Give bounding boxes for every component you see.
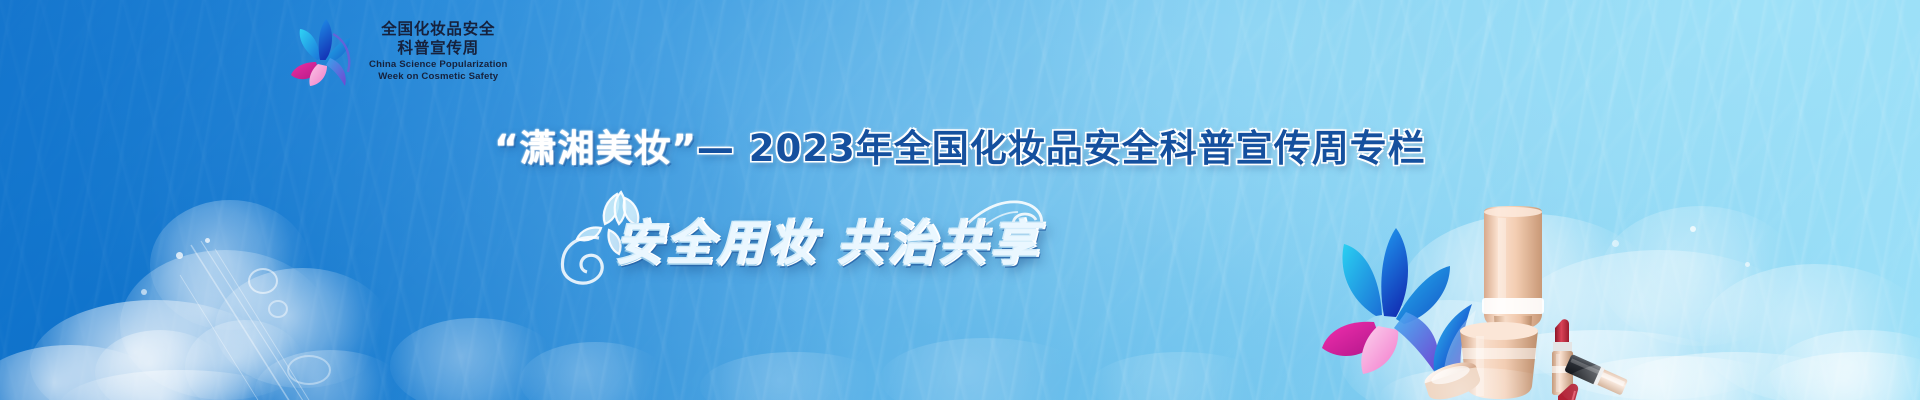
slogan-text: 安全用妆共治共享	[615, 204, 1041, 274]
slogan-block: 安全用妆共治共享	[560, 182, 1040, 292]
logo-cn-line1: 全国化妆品安全	[381, 22, 495, 38]
event-logo: 全国化妆品安全 科普宣传周 China Science Popularizati…	[286, 14, 508, 90]
logo-en-line1: China Science Popularization	[369, 60, 508, 70]
butterfly-logo-mark	[286, 14, 360, 90]
slogan-part1: 安全用妆	[615, 216, 819, 272]
slogan-part2: 共治共享	[837, 216, 1041, 272]
banner-headline: “潇湘美妆”— 2023年全国化妆品安全科普宣传周专栏	[0, 118, 1920, 172]
headline-subtitle: — 2023年全国化妆品安全科普宣传周专栏	[697, 127, 1426, 170]
headline-quoted-title: “潇湘美妆”	[494, 127, 697, 170]
lipstick-tip-icon	[1554, 382, 1588, 400]
product-cluster	[1318, 206, 1648, 400]
logo-wordmark: 全国化妆品安全 科普宣传周 China Science Popularizati…	[369, 22, 508, 81]
logo-en-line2: Week on Cosmetic Safety	[378, 72, 498, 82]
water-streaks	[175, 235, 435, 400]
cream-jar-icon	[1410, 286, 1550, 400]
logo-cn-line2: 科普宣传周	[398, 41, 480, 57]
cosmetic-safety-week-banner: 全国化妆品安全 科普宣传周 China Science Popularizati…	[0, 0, 1920, 400]
